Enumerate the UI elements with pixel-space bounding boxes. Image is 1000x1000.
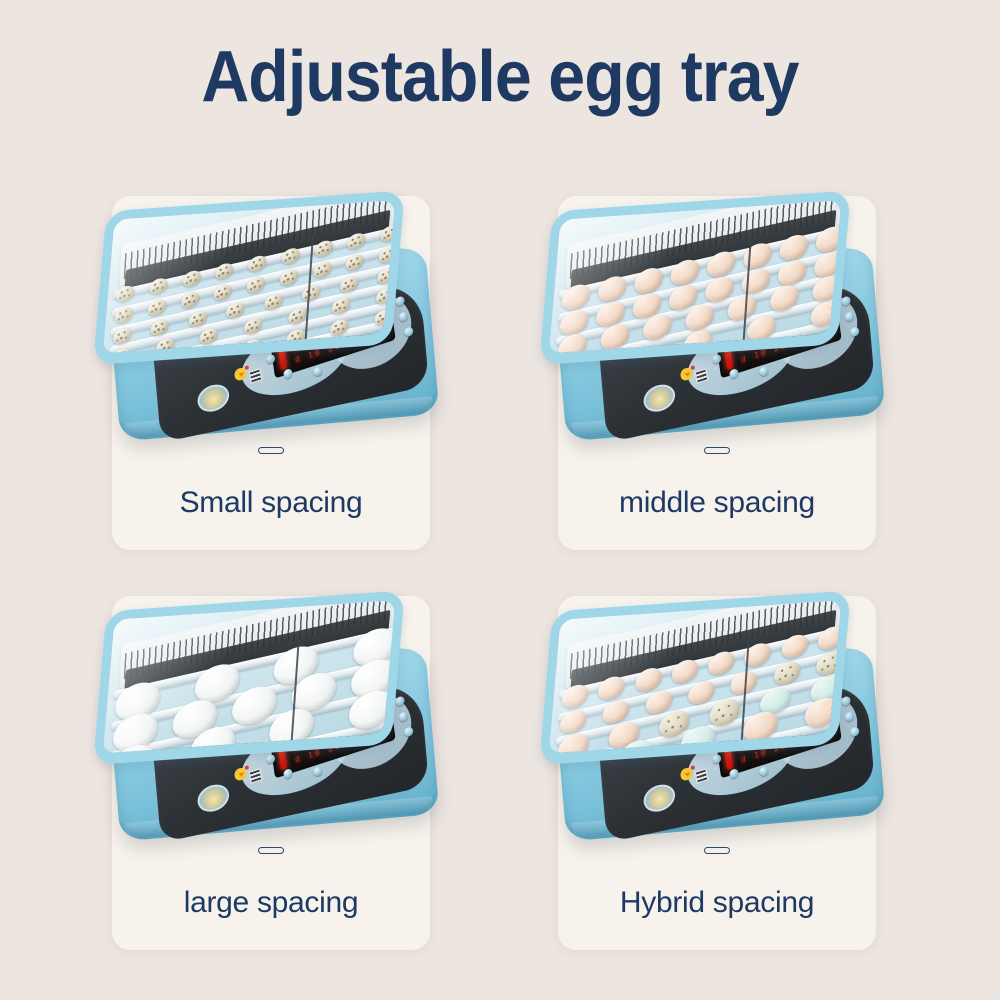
egg	[556, 751, 592, 753]
egg	[670, 257, 700, 288]
card-label-large: large spacing	[112, 886, 430, 920]
tray-rail	[557, 648, 841, 723]
egg	[378, 245, 395, 264]
egg	[813, 249, 841, 280]
egg	[632, 290, 662, 321]
chick-icon	[232, 363, 249, 383]
panel-button-2[interactable]	[712, 754, 722, 765]
egg	[598, 674, 626, 702]
led-display: 33.8 68 d 10 20 H 03	[270, 700, 396, 778]
egg	[658, 707, 690, 739]
panel-button-8[interactable]	[832, 285, 842, 296]
egg	[816, 650, 842, 678]
egg	[312, 260, 331, 279]
egg	[680, 723, 716, 754]
led-temperature: 33.8	[736, 723, 782, 757]
spacing-card-grid: 33.8 68 d 10 20 H 03	[112, 196, 888, 956]
panel-spec-title: Automatic Egg Incubator	[346, 295, 411, 321]
tray-rail	[109, 281, 395, 353]
egg	[671, 657, 699, 685]
panel-button-4[interactable]	[759, 766, 769, 777]
tray-rail	[556, 272, 842, 347]
panel-button-3[interactable]	[283, 368, 293, 379]
page-title: Adjustable egg tray	[40, 40, 960, 116]
egg	[114, 678, 161, 724]
panel-button-4[interactable]	[313, 766, 323, 777]
egg	[246, 275, 265, 294]
incubator-device: 33.8 68 d 10 20 H 03	[539, 186, 895, 460]
card-label-middle: middle spacing	[558, 486, 876, 520]
power-led-icon	[691, 765, 695, 770]
egg	[817, 624, 841, 652]
panel-button-7[interactable]	[404, 726, 414, 737]
panel-spec-title: Automatic Egg Incubator	[792, 695, 857, 721]
egg	[746, 313, 776, 344]
transparent-lid	[93, 190, 405, 365]
egg	[561, 682, 589, 710]
egg	[683, 327, 713, 353]
tray-rail	[112, 244, 396, 319]
panel-button-8[interactable]	[386, 285, 396, 296]
panel-button-7[interactable]	[850, 326, 860, 337]
panel-button-6[interactable]	[399, 311, 409, 322]
panel-button-5[interactable]	[841, 296, 851, 307]
egg	[112, 709, 159, 753]
control-panel[interactable]: 33.8 68 d 10 20 H 03	[598, 678, 875, 843]
egg	[380, 224, 395, 243]
panel-button-6[interactable]	[399, 711, 409, 722]
egg	[779, 232, 809, 263]
led-readout: 33.8 68	[736, 705, 837, 756]
lid-glare	[93, 206, 262, 365]
device-shell	[552, 646, 885, 841]
egg-tray	[106, 221, 395, 353]
vent-comb	[119, 200, 395, 289]
egg	[155, 337, 174, 353]
egg	[557, 730, 589, 753]
panel-button-8[interactable]	[386, 685, 396, 696]
egg	[608, 719, 640, 751]
egg	[213, 283, 232, 302]
egg	[600, 322, 630, 353]
tray-rail	[109, 687, 396, 753]
egg	[810, 673, 841, 705]
egg	[685, 303, 715, 334]
transparent-lid	[539, 190, 851, 365]
led-humidity: 68	[812, 705, 837, 732]
led-temperature: 33.8	[736, 323, 782, 357]
card-divider	[258, 847, 284, 854]
led-display: 33.8 68 d 10 20 H 03	[270, 300, 396, 378]
lid-glare	[93, 606, 262, 765]
panel-button-7[interactable]	[404, 326, 414, 337]
led-display: 33.8 68 d 10 20 H 03	[716, 700, 842, 778]
egg	[264, 292, 283, 311]
egg	[268, 705, 315, 751]
panel-button-1[interactable]	[697, 771, 707, 782]
egg	[558, 332, 588, 354]
egg	[111, 347, 130, 353]
panel-button-6[interactable]	[845, 711, 855, 722]
egg	[189, 723, 236, 754]
egg	[634, 265, 664, 296]
egg	[314, 239, 333, 258]
panel-button-4[interactable]	[313, 366, 323, 377]
led-temperature: 33.8	[290, 323, 336, 357]
vent-comb	[565, 200, 841, 289]
egg-tray	[552, 221, 841, 353]
qr-code-icon	[249, 368, 263, 383]
led-separator	[344, 716, 358, 739]
panel-spec-title: Automatic Egg Incubator	[792, 295, 857, 321]
led-sub-readout: d 10 20 H 03	[740, 730, 821, 764]
egg	[347, 232, 366, 251]
egg	[642, 312, 672, 343]
incubator-illustration-small: 33.8 68 d 10 20 H 03	[81, 182, 461, 472]
qr-code-icon	[695, 368, 709, 383]
egg	[182, 269, 201, 288]
egg	[231, 682, 278, 728]
card-divider	[258, 447, 284, 454]
panel-button-5[interactable]	[395, 696, 405, 707]
egg	[804, 695, 840, 731]
egg	[149, 277, 168, 296]
tray-adjuster-bar[interactable]	[742, 237, 752, 353]
egg	[150, 317, 169, 336]
egg	[352, 624, 395, 670]
incubator-device: 33.8 68 d 10 20 H 03	[93, 586, 449, 860]
egg	[114, 305, 133, 324]
lid-interior	[549, 200, 841, 353]
led-separator	[790, 716, 804, 739]
card-label-hybrid: Hybrid spacing	[558, 886, 876, 920]
led-readout: 33.8 68	[736, 305, 837, 356]
egg	[705, 274, 735, 305]
keypad-area-secondary[interactable]	[767, 281, 866, 381]
panel-spec-text: Automatic Egg Incubator	[792, 295, 860, 337]
panel-button-2[interactable]	[266, 354, 276, 365]
tray-rail	[552, 318, 841, 353]
keypad-area-secondary[interactable]	[321, 281, 420, 381]
egg	[815, 224, 841, 255]
heating-element	[570, 610, 836, 694]
device-shell	[552, 246, 885, 441]
egg	[248, 254, 267, 273]
heating-element	[124, 210, 390, 294]
egg	[730, 669, 758, 697]
led-humidity: 68	[366, 305, 391, 332]
panel-spec-text: Automatic Egg Incubator	[346, 295, 414, 337]
keypad-area[interactable]	[682, 314, 799, 408]
egg	[596, 298, 626, 329]
egg	[273, 642, 320, 688]
tray-adjuster-bar[interactable]	[289, 639, 299, 754]
device-shadow	[129, 800, 419, 826]
panel-button-3[interactable]	[729, 768, 739, 779]
egg	[198, 348, 217, 354]
device-side-vent	[117, 348, 134, 358]
egg	[743, 241, 773, 272]
egg	[741, 265, 771, 296]
egg	[171, 696, 218, 742]
egg	[561, 282, 591, 313]
device-side-vent	[563, 348, 580, 358]
control-panel[interactable]: 33.8 68 d 10 20 H 03	[152, 278, 429, 443]
led-separator	[344, 316, 358, 339]
incubator-illustration-hybrid: 33.8 68 d 10 20 H 03	[527, 582, 907, 872]
card-divider	[704, 847, 730, 854]
led-indicator-bar	[723, 341, 733, 370]
card-divider	[704, 447, 730, 454]
egg	[243, 317, 262, 336]
led-indicator-bar	[723, 741, 733, 770]
egg	[810, 299, 840, 330]
egg	[281, 247, 300, 266]
keypad-area[interactable]	[236, 314, 353, 408]
vent-comb	[565, 600, 841, 689]
device-side-vent	[563, 748, 580, 758]
egg	[709, 696, 741, 728]
chick-icon	[232, 763, 249, 783]
egg-tray	[106, 621, 395, 753]
lid-interior	[103, 200, 395, 353]
lid-interior	[103, 600, 395, 753]
egg	[199, 327, 218, 346]
egg	[116, 284, 135, 303]
chick-icon	[678, 363, 695, 383]
device-shell	[106, 246, 439, 441]
keypad-area[interactable]	[682, 714, 799, 808]
egg	[348, 686, 395, 732]
egg	[645, 688, 673, 716]
incubator-device: 33.8 68 d 10 20 H 03	[93, 186, 449, 460]
transparent-lid	[539, 590, 851, 765]
tray-rail	[554, 295, 841, 353]
device-shadow	[575, 400, 865, 426]
egg	[226, 300, 245, 319]
led-display: 33.8 68 d 10 20 H 03	[716, 300, 842, 378]
viewing-window-icon	[195, 781, 231, 816]
incubator-device: 33.8 68 d 10 20 H 03	[539, 586, 895, 860]
keypad-area-secondary[interactable]	[767, 681, 866, 781]
power-led-icon	[245, 365, 249, 370]
tray-rail	[113, 625, 395, 700]
tray-rail	[111, 656, 395, 731]
tray-rail	[552, 718, 841, 753]
egg	[291, 669, 338, 715]
egg	[331, 297, 350, 316]
spacing-card-large[interactable]: 33.8 68 d 10 20 H 03	[112, 596, 430, 950]
device-shell	[106, 646, 439, 841]
egg	[618, 737, 654, 753]
control-panel[interactable]: 33.8 68 d 10 20 H 03	[598, 278, 875, 443]
spacing-card-hybrid[interactable]: 33.8 68 d 10 20 H 03	[558, 596, 876, 950]
viewing-window-icon	[641, 781, 677, 816]
tray-rail	[557, 248, 841, 323]
panel-button-5[interactable]	[841, 696, 851, 707]
egg	[706, 249, 736, 280]
egg	[559, 708, 587, 736]
egg	[287, 307, 306, 326]
device-shadow	[575, 800, 865, 826]
device-side-vent	[117, 748, 134, 758]
tray-rail	[108, 299, 395, 353]
tray-rail	[106, 718, 395, 753]
panel-button-1[interactable]	[251, 371, 261, 382]
egg	[634, 666, 662, 694]
egg	[781, 632, 809, 660]
panel-spec-text: Automatic Egg Incubator	[792, 695, 860, 737]
control-panel[interactable]: 33.8 68 d 10 20 H 03	[152, 678, 429, 843]
egg	[193, 660, 240, 706]
egg	[687, 679, 715, 707]
egg	[376, 287, 395, 306]
lid-glare	[539, 206, 708, 365]
power-led-icon	[245, 765, 249, 770]
panel-button-8[interactable]	[832, 685, 842, 696]
tray-rail	[554, 695, 841, 753]
egg	[742, 709, 778, 745]
incubator-illustration-middle: 33.8 68 d 10 20 H 03	[527, 182, 907, 472]
egg	[744, 641, 772, 669]
panel-button-1[interactable]	[697, 371, 707, 382]
egg	[374, 308, 393, 327]
panel-button-2[interactable]	[266, 754, 276, 765]
panel-button-3[interactable]	[283, 768, 293, 779]
led-readout: 33.8 68	[290, 705, 391, 756]
led-temperature: 33.8	[290, 723, 336, 757]
egg	[597, 274, 627, 305]
egg	[279, 267, 298, 286]
egg	[377, 266, 395, 285]
viewing-window-icon	[641, 381, 677, 416]
vent-comb	[119, 600, 395, 689]
panel-button-2[interactable]	[712, 354, 722, 365]
tray-rail	[559, 625, 841, 700]
keypad-area-secondary[interactable]	[321, 681, 420, 781]
qr-code-icon	[695, 768, 709, 783]
chick-icon	[678, 763, 695, 783]
egg	[242, 338, 261, 354]
led-readout: 33.8 68	[290, 305, 391, 356]
panel-button-3[interactable]	[729, 368, 739, 379]
heating-element	[124, 610, 390, 694]
led-indicator-bar	[277, 741, 287, 770]
tray-adjuster-bar[interactable]	[740, 638, 750, 754]
egg	[330, 318, 349, 337]
card-label-small: Small spacing	[112, 486, 430, 520]
led-humidity: 68	[812, 305, 837, 332]
viewing-window-icon	[195, 381, 231, 416]
egg	[147, 298, 166, 317]
egg	[286, 328, 305, 347]
tray-rail	[110, 262, 395, 337]
egg-tray	[552, 621, 841, 753]
qr-code-icon	[249, 768, 263, 783]
egg	[759, 684, 791, 716]
egg	[188, 309, 207, 328]
led-sub-readout: d 10 20 H 03	[740, 330, 821, 364]
egg	[113, 326, 132, 345]
heating-element	[570, 210, 836, 294]
panel-spec-text: Automatic Egg Incubator	[346, 695, 414, 737]
egg	[668, 282, 698, 313]
lid-glare	[539, 606, 708, 765]
egg	[345, 252, 364, 271]
device-shadow	[129, 400, 419, 426]
panel-button-4[interactable]	[759, 366, 769, 377]
tray-rail	[559, 225, 841, 300]
spacing-card-middle[interactable]: 33.8 68 d 10 20 H 03	[558, 196, 876, 550]
egg	[769, 283, 799, 314]
egg	[339, 274, 358, 293]
egg	[301, 283, 320, 302]
tray-rail	[556, 672, 842, 747]
egg	[773, 659, 801, 687]
egg	[110, 741, 157, 754]
led-sub-readout: d 10 20 H 03	[294, 330, 375, 364]
led-sub-readout: d 10 20 H 03	[294, 730, 375, 764]
egg	[559, 307, 589, 338]
spacing-card-small[interactable]: 33.8 68 d 10 20 H 03	[112, 196, 430, 550]
egg	[812, 274, 841, 305]
egg	[602, 698, 630, 726]
tray-rail	[113, 225, 395, 300]
egg	[777, 257, 807, 288]
panel-button-5[interactable]	[395, 296, 405, 307]
incubator-illustration-large: 33.8 68 d 10 20 H 03	[81, 582, 461, 872]
led-separator	[790, 316, 804, 339]
panel-button-7[interactable]	[850, 726, 860, 737]
panel-button-1[interactable]	[251, 771, 261, 782]
keypad-area[interactable]	[236, 714, 353, 808]
led-indicator-bar	[277, 341, 287, 370]
panel-button-6[interactable]	[845, 311, 855, 322]
egg	[619, 342, 649, 353]
led-humidity: 68	[366, 705, 391, 732]
lid-interior	[549, 600, 841, 753]
egg	[215, 262, 234, 281]
tray-adjuster-bar[interactable]	[304, 235, 314, 353]
transparent-lid	[93, 590, 405, 765]
egg	[350, 655, 395, 701]
power-led-icon	[691, 365, 695, 370]
egg	[727, 293, 757, 324]
egg	[708, 649, 736, 677]
panel-spec-title: Automatic Egg Incubator	[346, 695, 411, 721]
egg	[180, 290, 199, 309]
tray-rail	[106, 318, 395, 353]
